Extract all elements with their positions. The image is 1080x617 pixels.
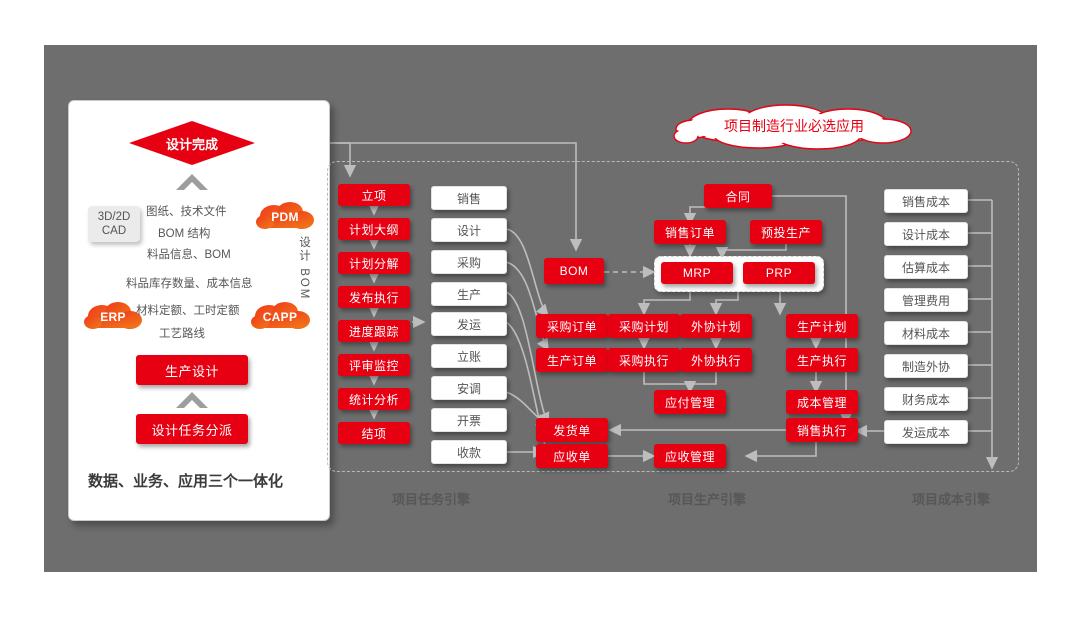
plan-row-2[interactable]: 外协计划 bbox=[680, 314, 752, 338]
cost-item-5[interactable]: 制造外协 bbox=[884, 354, 968, 378]
sales-exec-box[interactable]: 销售执行 bbox=[786, 418, 858, 442]
sales-order-box[interactable]: 销售订单 bbox=[654, 220, 726, 244]
flow-label-bom-structure: BOM 结构 bbox=[158, 225, 210, 241]
exec-row-1[interactable]: 采购执行 bbox=[608, 348, 680, 372]
receivable-note-box[interactable]: 应收单 bbox=[536, 444, 608, 468]
task-white-8[interactable]: 收款 bbox=[431, 440, 507, 464]
flow-label-drawings: 图纸、技术文件 bbox=[146, 203, 227, 219]
cost-engine-label: 项目成本引擎 bbox=[912, 489, 990, 508]
capp-cloud[interactable]: CAPP bbox=[248, 300, 312, 334]
receivable-mgmt-box[interactable]: 应收管理 bbox=[654, 444, 726, 468]
plan-row-3[interactable]: 生产计划 bbox=[786, 314, 858, 338]
cad-line-1: 3D/2D bbox=[98, 210, 131, 224]
task-white-1[interactable]: 设计 bbox=[431, 218, 507, 242]
task-white-7[interactable]: 开票 bbox=[431, 408, 507, 432]
design-bom-vertical-label: 设计 BOM bbox=[296, 236, 312, 300]
chevron-up-icon-design bbox=[175, 172, 209, 192]
pdm-cloud[interactable]: PDM bbox=[254, 200, 316, 234]
cost-item-3[interactable]: 管理费用 bbox=[884, 288, 968, 312]
design-complete-diamond[interactable]: 设计完成 bbox=[128, 120, 256, 166]
callout-cloud: 项目制造行业必选应用 bbox=[668, 103, 920, 151]
cad-line-2: CAD bbox=[102, 224, 126, 238]
cost-item-4[interactable]: 材料成本 bbox=[884, 321, 968, 345]
erp-cloud[interactable]: ERP bbox=[82, 300, 144, 334]
flow-label-route: 工艺路线 bbox=[159, 325, 205, 341]
cost-item-1[interactable]: 设计成本 bbox=[884, 222, 968, 246]
diagram-root: 设计完成 3D/2D CAD PDM ERP bbox=[0, 0, 1080, 617]
task-step-7[interactable]: 结项 bbox=[338, 422, 410, 444]
cad-box[interactable]: 3D/2D CAD bbox=[88, 206, 140, 242]
design-task-assign-box[interactable]: 设计任务分派 bbox=[136, 414, 248, 444]
task-white-2[interactable]: 采购 bbox=[431, 250, 507, 274]
task-white-5[interactable]: 立账 bbox=[431, 344, 507, 368]
cost-item-0[interactable]: 销售成本 bbox=[884, 189, 968, 213]
task-engine-label: 项目任务引擎 bbox=[392, 489, 470, 508]
callout-label: 项目制造行业必选应用 bbox=[724, 116, 864, 136]
design-complete-label: 设计完成 bbox=[166, 134, 218, 153]
cost-item-7[interactable]: 发运成本 bbox=[884, 420, 968, 444]
prp-box[interactable]: PRP bbox=[743, 262, 815, 284]
task-white-6[interactable]: 安调 bbox=[431, 376, 507, 400]
panel-title: 数据、业务、应用三个一体化 bbox=[88, 470, 283, 491]
task-white-3[interactable]: 生产 bbox=[431, 282, 507, 306]
chevron-up-icon-design-task bbox=[175, 390, 209, 410]
pdm-label: PDM bbox=[271, 210, 299, 224]
erp-label: ERP bbox=[100, 310, 126, 324]
task-step-3[interactable]: 发布执行 bbox=[338, 286, 410, 308]
task-step-5[interactable]: 评审监控 bbox=[338, 354, 410, 376]
exec-row-3[interactable]: 生产执行 bbox=[786, 348, 858, 372]
cost-item-6[interactable]: 财务成本 bbox=[884, 387, 968, 411]
task-step-2[interactable]: 计划分解 bbox=[338, 252, 410, 274]
payable-mgmt-box[interactable]: 应付管理 bbox=[654, 390, 726, 414]
exec-row-0[interactable]: 生产订单 bbox=[536, 348, 608, 372]
flow-label-stock-cost: 料品库存数量、成本信息 bbox=[126, 275, 253, 291]
task-step-1[interactable]: 计划大纲 bbox=[338, 218, 410, 240]
task-step-4[interactable]: 进度跟踪 bbox=[338, 320, 410, 342]
delivery-note-box[interactable]: 发货单 bbox=[536, 418, 608, 442]
task-step-0[interactable]: 立项 bbox=[338, 184, 410, 206]
production-engine-label: 项目生产引擎 bbox=[668, 489, 746, 508]
capp-label: CAPP bbox=[263, 310, 298, 324]
exec-row-2[interactable]: 外协执行 bbox=[680, 348, 752, 372]
cost-mgmt-box[interactable]: 成本管理 bbox=[786, 390, 858, 414]
flow-label-quota: 材料定额、工时定额 bbox=[136, 302, 240, 318]
bom-box[interactable]: BOM bbox=[544, 258, 604, 284]
task-white-0[interactable]: 销售 bbox=[431, 186, 507, 210]
task-white-4[interactable]: 发运 bbox=[431, 312, 507, 336]
task-step-6[interactable]: 统计分析 bbox=[338, 388, 410, 410]
plan-row-0[interactable]: 采购订单 bbox=[536, 314, 608, 338]
flow-label-material-info: 料品信息、BOM bbox=[147, 246, 231, 262]
production-design-box[interactable]: 生产设计 bbox=[136, 355, 248, 385]
plan-row-1[interactable]: 采购计划 bbox=[608, 314, 680, 338]
cost-item-2[interactable]: 估算成本 bbox=[884, 255, 968, 279]
contract-box[interactable]: 合同 bbox=[704, 184, 772, 208]
mrp-box[interactable]: MRP bbox=[661, 262, 733, 284]
pre-production-box[interactable]: 预投生产 bbox=[750, 220, 822, 244]
